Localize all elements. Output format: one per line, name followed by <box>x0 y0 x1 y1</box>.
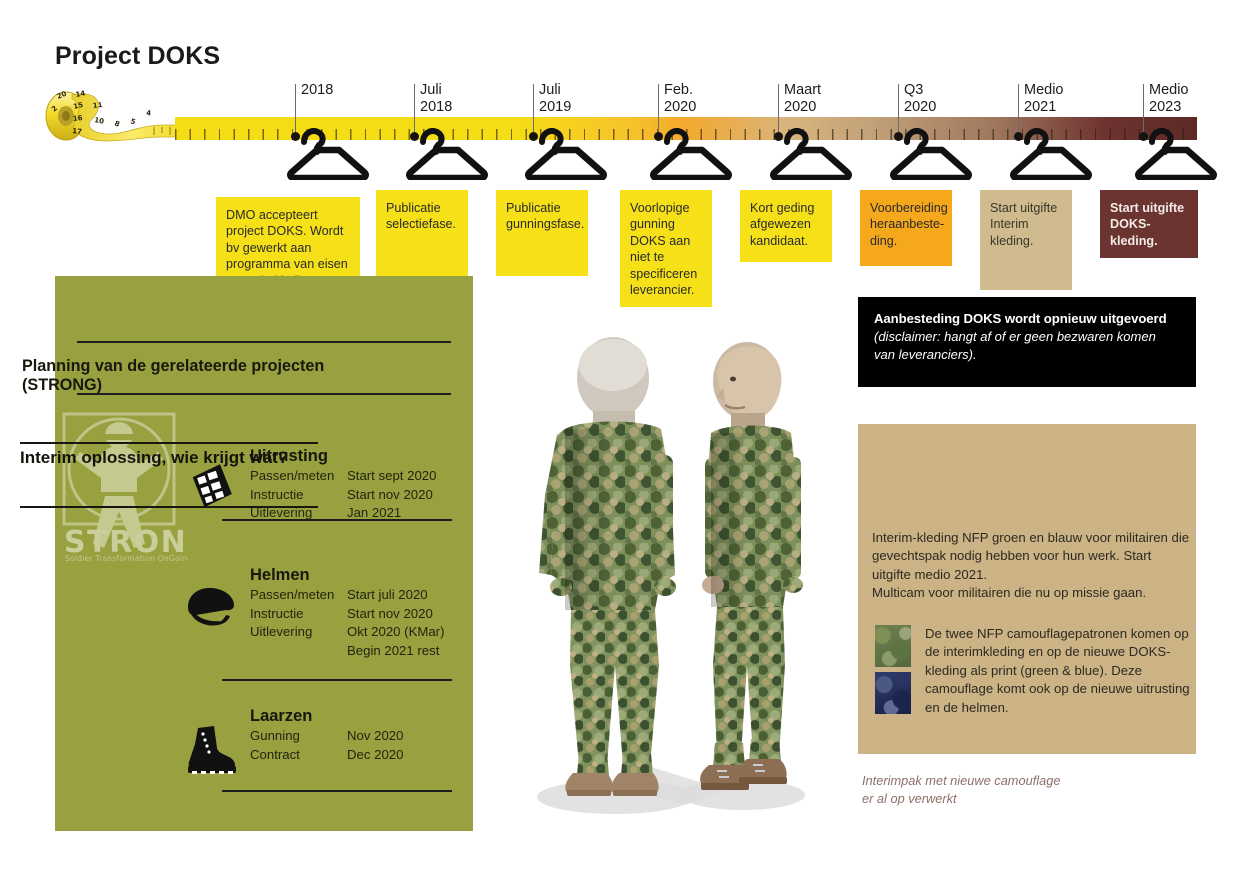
hanger-icon-0 <box>287 128 369 180</box>
planning-section-title: Helmen <box>250 566 444 585</box>
planning-row-label <box>250 642 347 661</box>
svg-text:10: 10 <box>94 116 105 126</box>
hanger-icon-4 <box>770 128 852 180</box>
planning-row: InstructieStart nov 2020 <box>250 486 436 505</box>
disclaimer-box: Aanbesteding DOKS wordt opnieuw uitgevoe… <box>858 297 1196 387</box>
planning-row-label: Instructie <box>250 605 347 624</box>
planning-row-value: Start nov 2020 <box>347 605 433 624</box>
planning-row-value: Okt 2020 (KMar) <box>347 623 444 642</box>
timeline-label-6: Medio 2021 <box>1024 82 1064 115</box>
svg-text:14: 14 <box>75 89 86 99</box>
timeline-label-1: Juli 2018 <box>420 82 452 115</box>
disclaimer-headline: Aanbesteding DOKS wordt opnieuw uitgevoe… <box>874 310 1180 328</box>
timeline-label-3: Feb. 2020 <box>664 82 696 115</box>
svg-text:4: 4 <box>146 109 152 117</box>
planning-row-label: Instructie <box>250 486 347 505</box>
timeline-note-card-5: Voorbereiding heraanbeste- ding. <box>860 190 952 266</box>
planning-row-label: Uitlevering <box>250 623 347 642</box>
equipment-vest-icon <box>188 462 234 508</box>
timeline-note-card-7: Start uitgifte DOKS-kleding. <box>1100 190 1198 258</box>
hanger-icon-3 <box>650 128 732 180</box>
page-title: Project DOKS <box>55 42 220 71</box>
planning-rule-sec-1 <box>222 519 452 521</box>
planning-section-helmen: HelmenPassen/metenStart juli 2020Instruc… <box>250 566 444 660</box>
planning-row-value: Start sept 2020 <box>347 467 436 486</box>
hanger-icon-1 <box>406 128 488 180</box>
disclaimer-body: (disclaimer: hangt af of er geen bezware… <box>874 328 1180 363</box>
planning-section-title: Laarzen <box>250 707 403 726</box>
interim-panel-body: Interim-kleding NFP groen en blauw voor … <box>872 529 1190 603</box>
svg-text:11: 11 <box>92 101 103 110</box>
helmet-icon <box>184 585 238 634</box>
interim-rule-under-title <box>20 506 318 508</box>
timeline-note-card-2: Publicatie gunningsfase. <box>496 190 588 276</box>
boot-icon <box>184 722 240 778</box>
planning-row-label: Contract <box>250 746 347 765</box>
hanger-icon-6 <box>1010 128 1092 180</box>
planning-row-value: Dec 2020 <box>347 746 403 765</box>
planning-row: ContractDec 2020 <box>250 746 403 765</box>
planning-row-value: Begin 2021 rest <box>347 642 439 661</box>
timeline-note-card-1: Publicatie selectiefase. <box>376 190 468 276</box>
strong-logo: STRONG Soldier Transformation OnGoing <box>62 412 188 562</box>
timeline-note-card-4: Kort geding afgewezen kandidaat. <box>740 190 832 262</box>
hanger-icon-7 <box>1135 128 1217 180</box>
timeline-label-2: Juli 2019 <box>539 82 571 115</box>
interim-rule-top <box>20 442 318 444</box>
planning-row: Passen/metenStart sept 2020 <box>250 467 436 486</box>
infographic-root: Project DOKS 20 14 2 15 11 16 10 17 8 <box>0 0 1250 884</box>
planning-row: InstructieStart nov 2020 <box>250 605 444 624</box>
timeline-note-card-6: Start uitgifte Interim kleding. <box>980 190 1072 290</box>
planning-row-value: Start nov 2020 <box>347 486 433 505</box>
svg-text:16: 16 <box>72 114 83 123</box>
planning-panel-title: Planning van de gerelateerde projecten (… <box>22 357 402 395</box>
svg-text:Soldier Transformation OnGoing: Soldier Transformation OnGoing <box>65 554 188 562</box>
planning-row: GunningNov 2020 <box>250 727 403 746</box>
planning-rule-under-title <box>77 393 451 395</box>
planning-row: UitleveringOkt 2020 (KMar) <box>250 623 444 642</box>
planning-rule-sec-3 <box>222 790 452 792</box>
timeline-label-4: Maart 2020 <box>784 82 821 115</box>
hanger-icon-5 <box>890 128 972 180</box>
measuring-tape-roll-icon: 20 14 2 15 11 16 10 17 8 5 4 <box>42 85 192 143</box>
planning-row: Passen/metenStart juli 2020 <box>250 586 444 605</box>
soldiers-photo <box>495 335 840 830</box>
planning-row-label: Gunning <box>250 727 347 746</box>
nfp-green-swatch <box>875 625 911 667</box>
planning-section-laarzen: LaarzenGunningNov 2020ContractDec 2020 <box>250 707 403 764</box>
nfp-blue-swatch <box>875 672 911 714</box>
interim-swatch-text: De twee NFP camouflagepatronen komen op … <box>925 625 1193 717</box>
timeline-label-5: Q3 2020 <box>904 82 936 115</box>
timeline-note-card-3: Voorlopige gunning DOKS aan niet te spec… <box>620 190 712 307</box>
planning-rule-sec-2 <box>222 679 452 681</box>
planning-row-label: Passen/meten <box>250 467 347 486</box>
planning-row-value: Nov 2020 <box>347 727 403 746</box>
svg-text:5: 5 <box>129 117 136 126</box>
planning-rule-top <box>77 341 451 343</box>
helmet-icon <box>184 585 238 629</box>
interim-panel-title: Interim oplossing, wie krijgt wat? <box>20 448 325 468</box>
svg-text:17: 17 <box>72 127 83 136</box>
boot-icon <box>184 722 240 783</box>
timeline-label-0: 2018 <box>301 82 333 99</box>
hanger-icon-2 <box>525 128 607 180</box>
planning-row-label: Passen/meten <box>250 586 347 605</box>
svg-text:8: 8 <box>113 119 121 128</box>
planning-row-value: Start juli 2020 <box>347 586 428 605</box>
photo-caption: Interimpak met nieuwe camouflage er al o… <box>862 772 1192 807</box>
planning-row: Begin 2021 rest <box>250 642 444 661</box>
timeline-label-7: Medio 2023 <box>1149 82 1189 115</box>
